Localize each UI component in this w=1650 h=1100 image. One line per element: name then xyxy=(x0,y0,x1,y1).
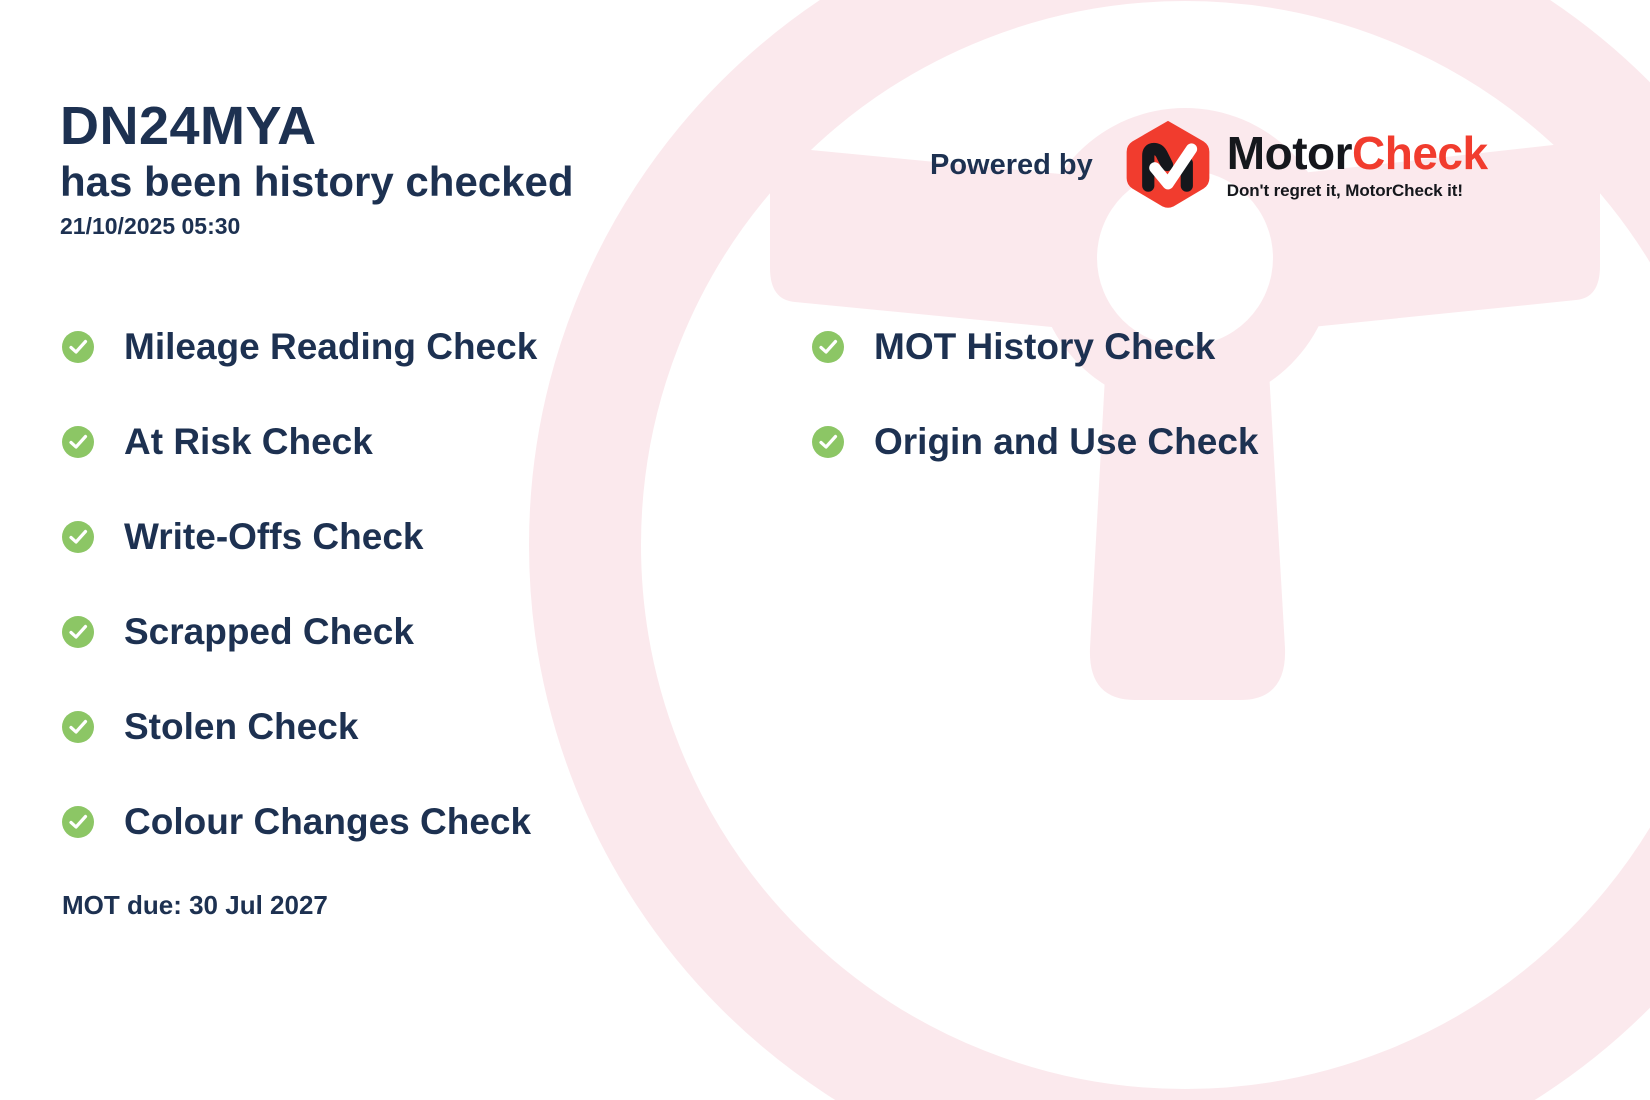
check-label: Write-Offs Check xyxy=(124,516,424,558)
check-circle-icon xyxy=(62,331,94,363)
list-item: Stolen Check xyxy=(62,698,537,756)
check-label: MOT History Check xyxy=(874,326,1215,368)
check-circle-icon xyxy=(812,426,844,458)
brand-tagline: Don't regret it, MotorCheck it! xyxy=(1227,181,1488,201)
list-item: At Risk Check xyxy=(62,413,537,471)
check-label: Origin and Use Check xyxy=(874,421,1259,463)
check-circle-icon xyxy=(62,521,94,553)
list-item: Scrapped Check xyxy=(62,603,537,661)
powered-by-branding: Powered by MotorCheck Don't regret it, M… xyxy=(930,118,1488,212)
list-item: Colour Changes Check xyxy=(62,793,537,851)
check-label: Stolen Check xyxy=(124,706,358,748)
motorcheck-logo[interactable]: MotorCheck Don't regret it, MotorCheck i… xyxy=(1121,118,1488,212)
history-check-summary-card: DN24MYA has been history checked 21/10/2… xyxy=(0,0,1650,1100)
check-label: Colour Changes Check xyxy=(124,801,531,843)
check-circle-icon xyxy=(812,331,844,363)
wordmark-motor: Motor xyxy=(1227,127,1352,179)
motorcheck-wordmark: MotorCheck xyxy=(1227,130,1488,176)
check-label: Scrapped Check xyxy=(124,611,414,653)
check-label: Mileage Reading Check xyxy=(124,326,537,368)
checks-left-column: Mileage Reading Check At Risk Check Writ… xyxy=(62,318,537,888)
motorcheck-logo-text: MotorCheck Don't regret it, MotorCheck i… xyxy=(1227,130,1488,201)
check-label: At Risk Check xyxy=(124,421,373,463)
vehicle-registration: DN24MYA xyxy=(60,96,574,157)
check-timestamp: 21/10/2025 05:30 xyxy=(60,213,574,240)
checks-right-column: MOT History Check Origin and Use Check xyxy=(812,318,1259,508)
list-item: MOT History Check xyxy=(812,318,1259,376)
check-circle-icon xyxy=(62,711,94,743)
list-item: Write-Offs Check xyxy=(62,508,537,566)
check-circle-icon xyxy=(62,806,94,838)
list-item: Mileage Reading Check xyxy=(62,318,537,376)
list-item: Origin and Use Check xyxy=(812,413,1259,471)
wordmark-check: Check xyxy=(1352,127,1488,179)
powered-by-label: Powered by xyxy=(930,149,1093,182)
check-circle-icon xyxy=(62,616,94,648)
mot-due-text: MOT due: 30 Jul 2027 xyxy=(62,890,328,921)
motorcheck-hexagon-logo-icon xyxy=(1121,118,1215,212)
check-circle-icon xyxy=(62,426,94,458)
page-title-block: DN24MYA has been history checked 21/10/2… xyxy=(60,96,574,240)
page-subtitle: has been history checked xyxy=(60,157,574,207)
